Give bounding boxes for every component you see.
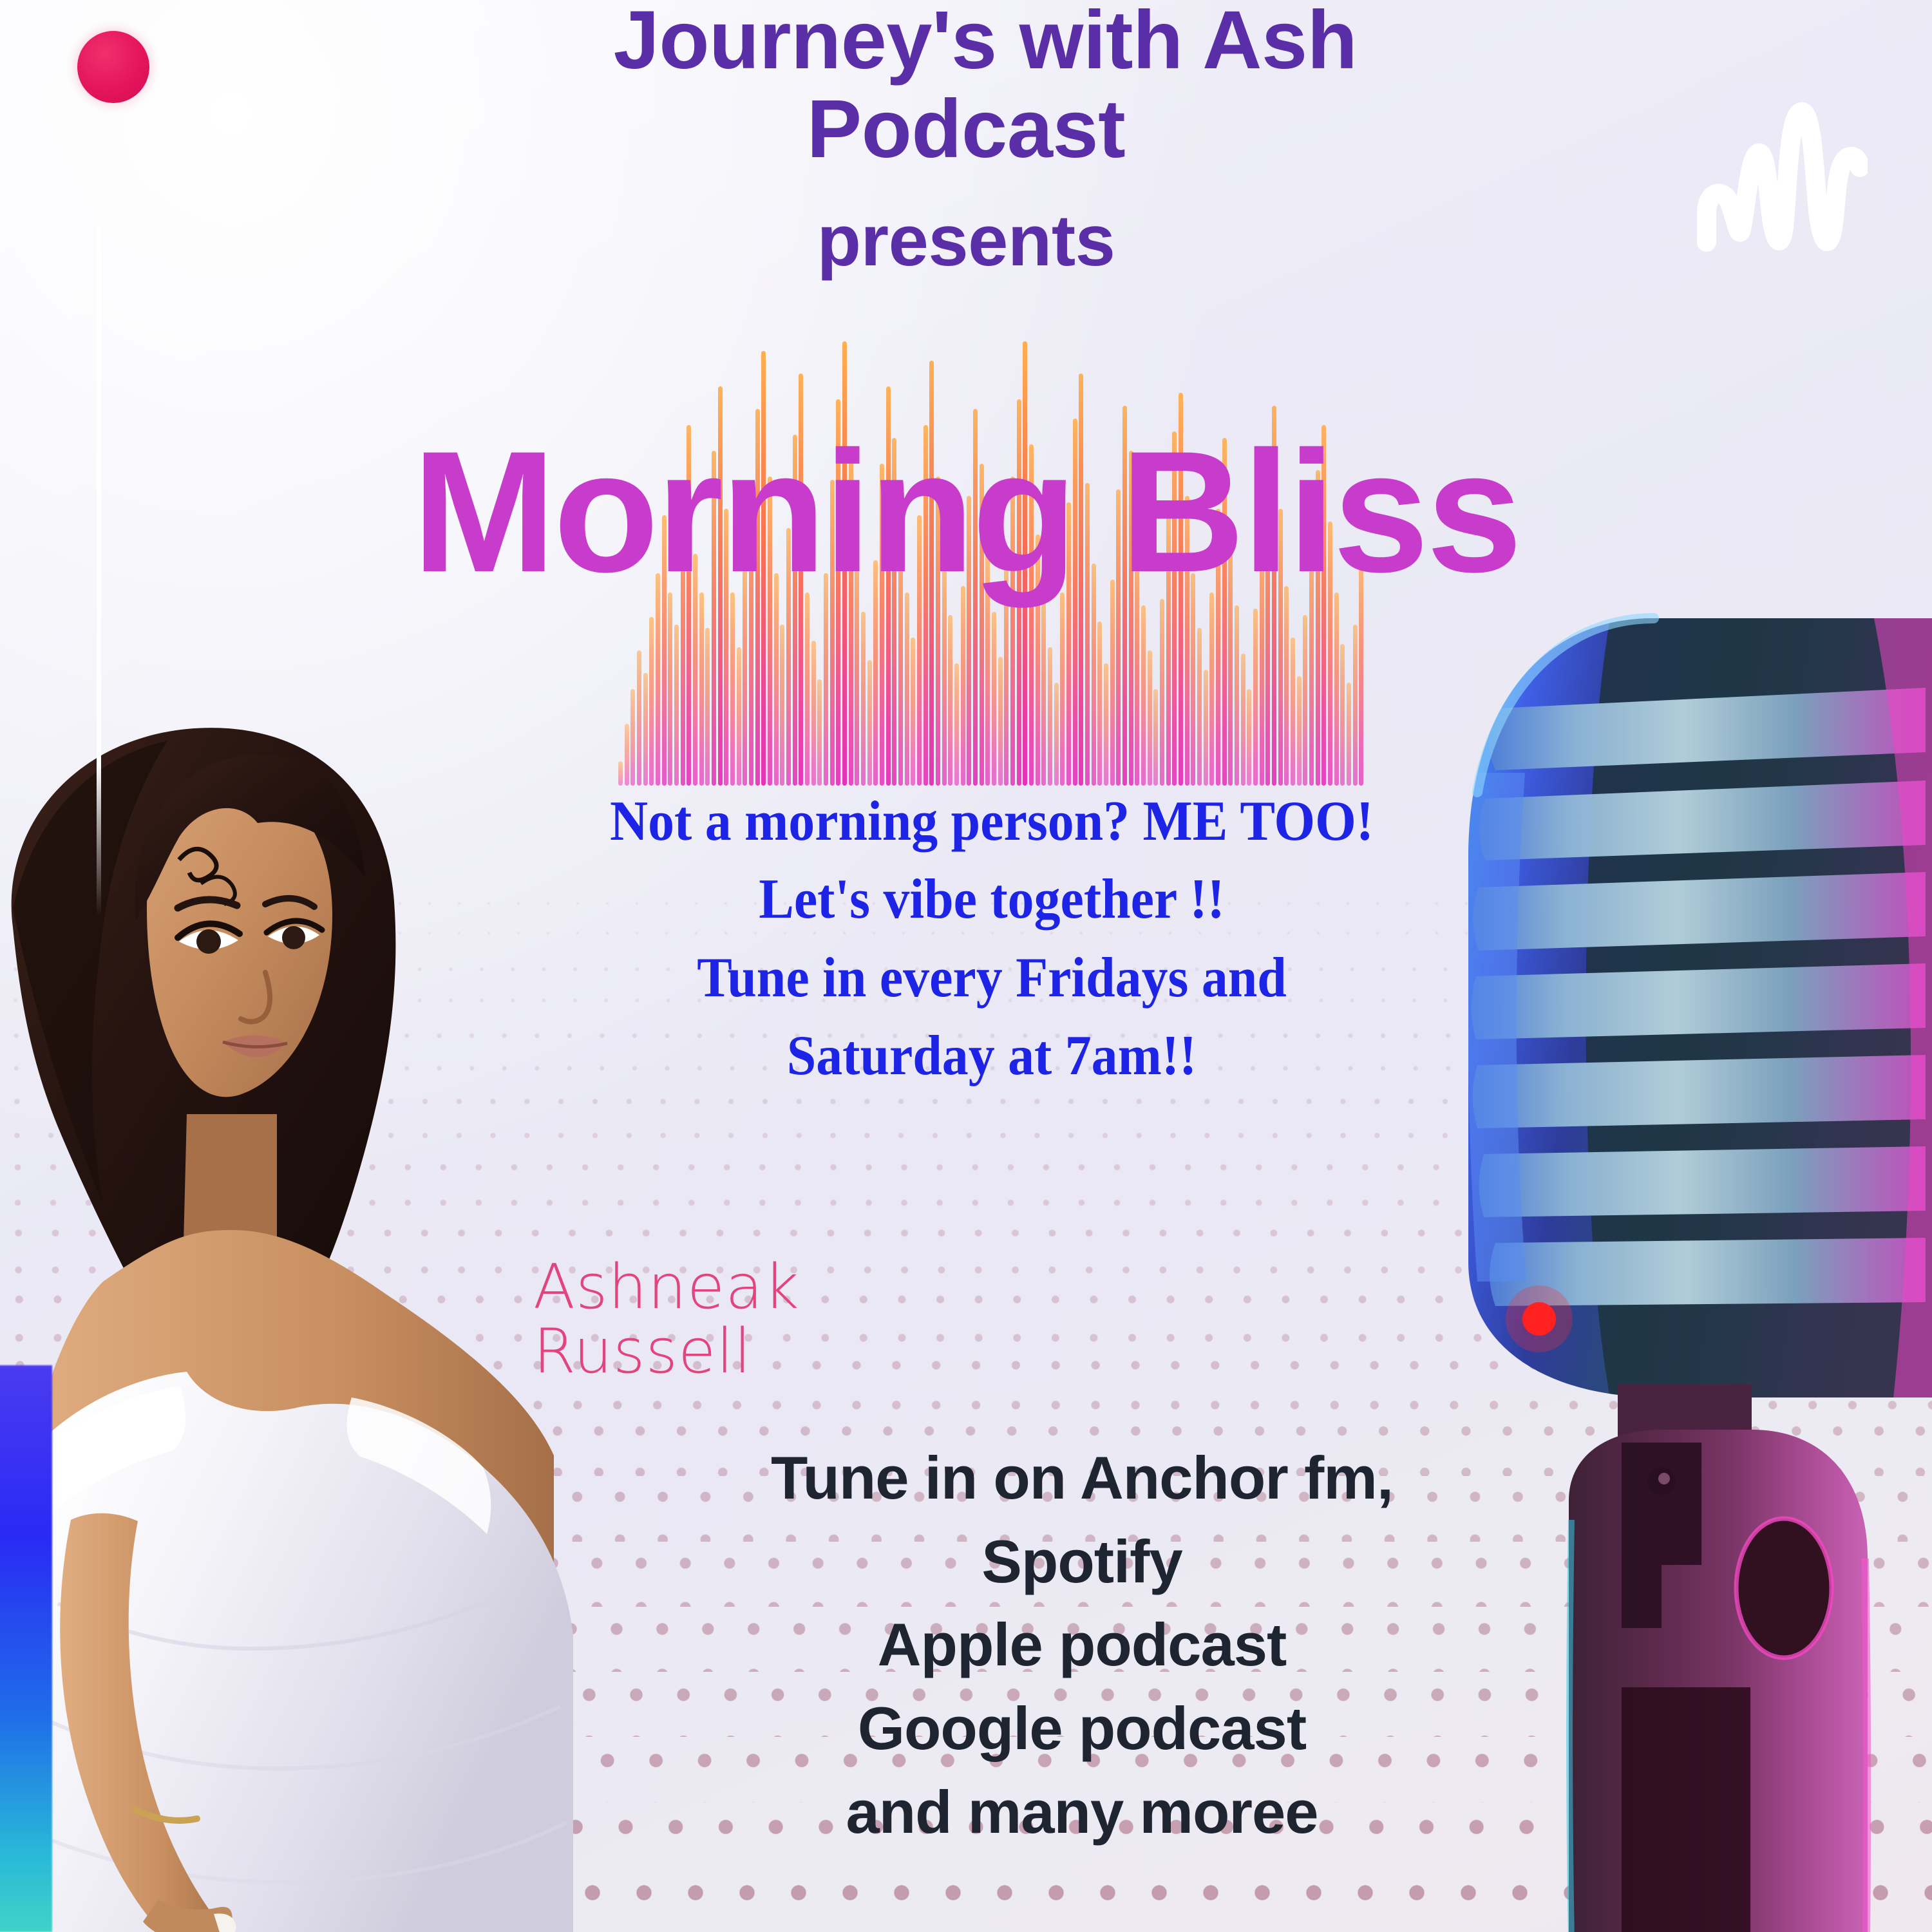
waveform-bar (992, 612, 996, 786)
host-first-name: Ashneak (533, 1256, 800, 1320)
waveform-bar (730, 592, 735, 786)
tagline-line-2: Let's vibe together !! (525, 860, 1459, 938)
waveform-bar (674, 625, 679, 786)
waveform-bar (1204, 670, 1208, 786)
waveform-bar (867, 660, 872, 786)
waveform-bar (668, 592, 672, 786)
blue-gradient-stripe (0, 1365, 52, 1932)
waveform-bar (630, 689, 635, 786)
show-title-line2: Podcast (0, 85, 1932, 174)
waveform-bar (637, 650, 641, 786)
platform-line-4: Google podcast (580, 1687, 1584, 1770)
tagline-block: Not a morning person? ME TOO! Let's vibe… (489, 782, 1494, 1095)
podcast-cover-art: Journey's with Ash Podcast presents Morn… (0, 0, 1932, 1932)
waveform-bar (1353, 625, 1358, 786)
waveform-bar (1060, 592, 1065, 786)
waveform-bar (649, 617, 654, 786)
waveform-bar (811, 641, 816, 786)
waveform-bar (780, 625, 784, 786)
waveform-bar (905, 592, 909, 786)
waveform-bar (1148, 650, 1152, 786)
platform-line-3: Apple podcast (580, 1603, 1584, 1687)
waveform-bar (1347, 683, 1351, 786)
waveform-bar (1141, 605, 1146, 786)
waveform-bar (1247, 689, 1251, 786)
page-title: Journey's with Ash Podcast presents (0, 0, 1932, 286)
waveform-bar (954, 663, 959, 786)
waveform-bar (1209, 592, 1214, 786)
waveform-bar (861, 612, 866, 786)
host-last-name: Russell (533, 1320, 800, 1385)
waveform-bar (1303, 615, 1307, 786)
platforms-block: Tune in on Anchor fm, Spotify Apple podc… (580, 1436, 1584, 1854)
waveform-bar (1197, 628, 1202, 786)
waveform-bar (643, 673, 648, 786)
waveform-bar (1054, 683, 1059, 786)
waveform-bar (1340, 644, 1345, 786)
waveform-bar (1110, 580, 1115, 786)
tagline-line-1: Not a morning person? ME TOO! (525, 782, 1459, 860)
presents-label: presents (0, 196, 1932, 286)
host-signature: Ashneak Russell (533, 1256, 800, 1385)
waveform-bar (948, 615, 952, 786)
waveform-bar (1104, 663, 1108, 786)
tagline-line-3: Tune in every Fridays and (525, 939, 1459, 1017)
waveform-bar (699, 592, 704, 786)
tagline-line-4: Saturday at 7am!! (525, 1017, 1459, 1095)
waveform-bar (817, 679, 822, 786)
waveform-bar (1297, 676, 1302, 786)
show-title-line1: Journey's with Ash (0, 0, 1932, 85)
waveform-bar (1284, 586, 1289, 786)
waveform-bar (805, 592, 810, 786)
waveform-bar (1048, 647, 1052, 786)
waveform-bar (1334, 592, 1339, 786)
platform-line-2: Spotify (580, 1520, 1584, 1604)
waveform-bar (1291, 638, 1295, 786)
waveform-bar (625, 724, 629, 786)
platform-line-1: Tune in on Anchor fm, (580, 1436, 1584, 1520)
waveform-bar (1160, 599, 1164, 786)
waveform-bar (1241, 654, 1245, 786)
episode-title: Morning Bliss (0, 425, 1932, 598)
waveform-bar (911, 638, 915, 786)
waveform-bar (1041, 599, 1046, 786)
waveform-bar (961, 586, 965, 786)
waveform-bar (1253, 609, 1258, 786)
platform-line-5: and many moree (580, 1770, 1584, 1854)
waveform-bar (1097, 621, 1102, 786)
waveform-bar (705, 628, 710, 786)
waveform-bar (1153, 689, 1158, 786)
waveform-bar (737, 647, 741, 786)
waveform-bar (998, 657, 1003, 786)
waveform-bar (1235, 605, 1239, 786)
